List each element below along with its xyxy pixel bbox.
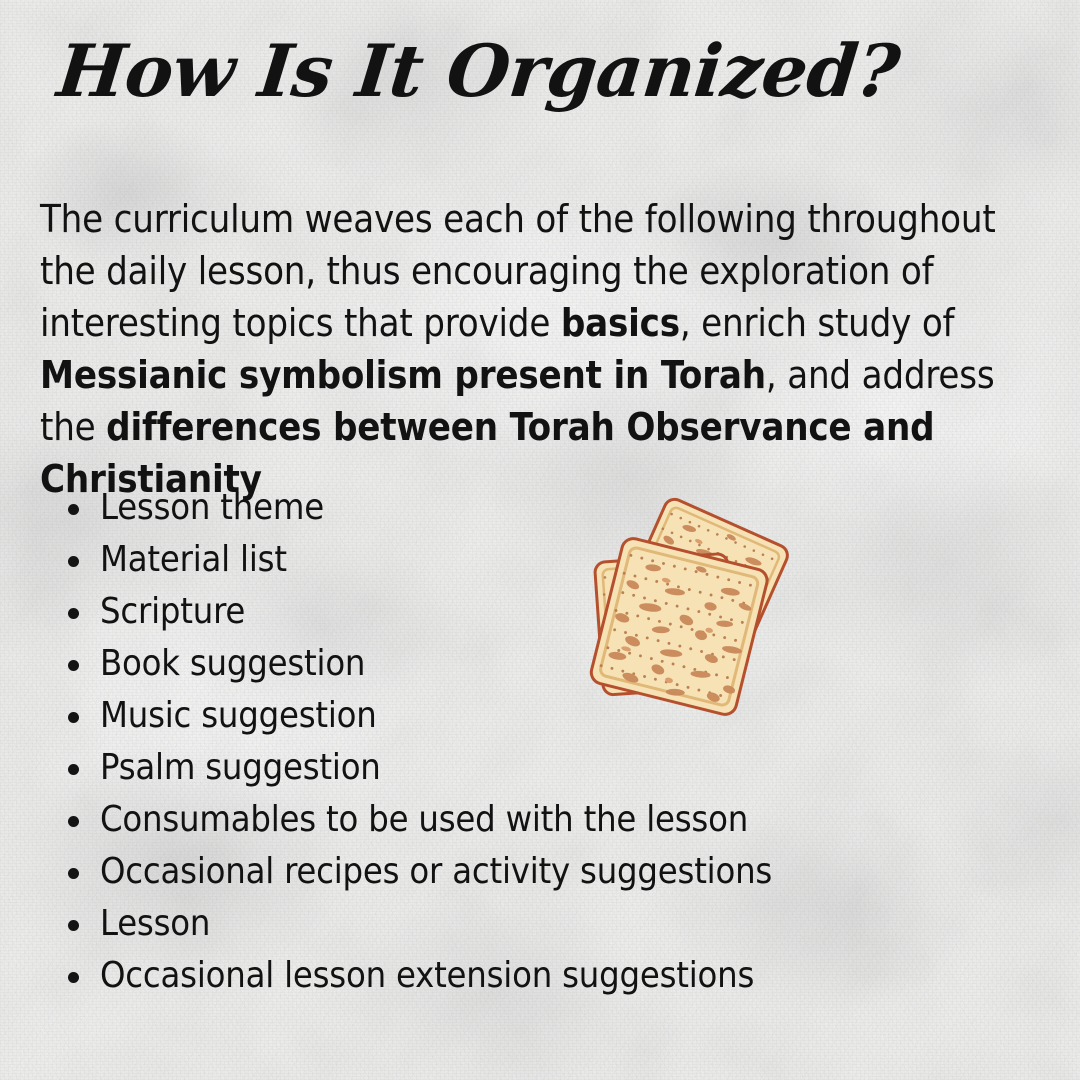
list-item-label: Consumables to be used with the lesson [100, 799, 748, 840]
list-item: Book suggestion [60, 638, 1040, 690]
bullet-dot-icon [68, 816, 79, 827]
list-item-label: Lesson [100, 903, 210, 944]
list-item: Occasional recipes or activity suggestio… [60, 846, 1040, 898]
bullet-dot-icon [68, 868, 79, 879]
list-item: Music suggestion [60, 690, 1040, 742]
bullet-dot-icon [68, 660, 79, 671]
list-item: Occasional lesson extension suggestions [60, 950, 1040, 1002]
bullet-dot-icon [68, 608, 79, 619]
intro-bold-run: Messianic symbolism present in Torah [40, 353, 766, 397]
poster-canvas: How Is It Organized? The curriculum weav… [0, 0, 1080, 1080]
intro-paragraph: The curriculum weaves each of the follow… [40, 193, 1050, 505]
list-item-label: Occasional recipes or activity suggestio… [100, 851, 772, 892]
matzah-stack-icon [588, 486, 838, 754]
intro-text-run: , enrich study of [680, 301, 955, 345]
bullet-dot-icon [68, 764, 79, 775]
list-item-label: Material list [100, 539, 287, 580]
bullet-dot-icon [68, 712, 79, 723]
bullet-dot-icon [68, 920, 79, 931]
list-item-label: Psalm suggestion [100, 747, 381, 788]
intro-bold-run: basics [561, 301, 680, 345]
list-item: Material list [60, 534, 1040, 586]
list-item: Scripture [60, 586, 1040, 638]
list-item-label: Occasional lesson extension suggestions [100, 955, 754, 996]
list-item-label: Scripture [100, 591, 245, 632]
list-item: Lesson [60, 898, 1040, 950]
feature-bullet-list: Lesson themeMaterial listScriptureBook s… [60, 482, 1040, 1002]
bullet-dot-icon [68, 504, 79, 515]
page-title: How Is It Organized? [54, 30, 904, 112]
list-item-label: Music suggestion [100, 695, 377, 736]
list-item-label: Book suggestion [100, 643, 365, 684]
list-item-label: Lesson theme [100, 487, 324, 528]
bullet-dot-icon [68, 972, 79, 983]
list-item: Psalm suggestion [60, 742, 1040, 794]
poster-content: How Is It Organized? The curriculum weav… [0, 0, 1080, 1080]
list-item: Consumables to be used with the lesson [60, 794, 1040, 846]
list-item: Lesson theme [60, 482, 1040, 534]
bullet-dot-icon [68, 556, 79, 567]
